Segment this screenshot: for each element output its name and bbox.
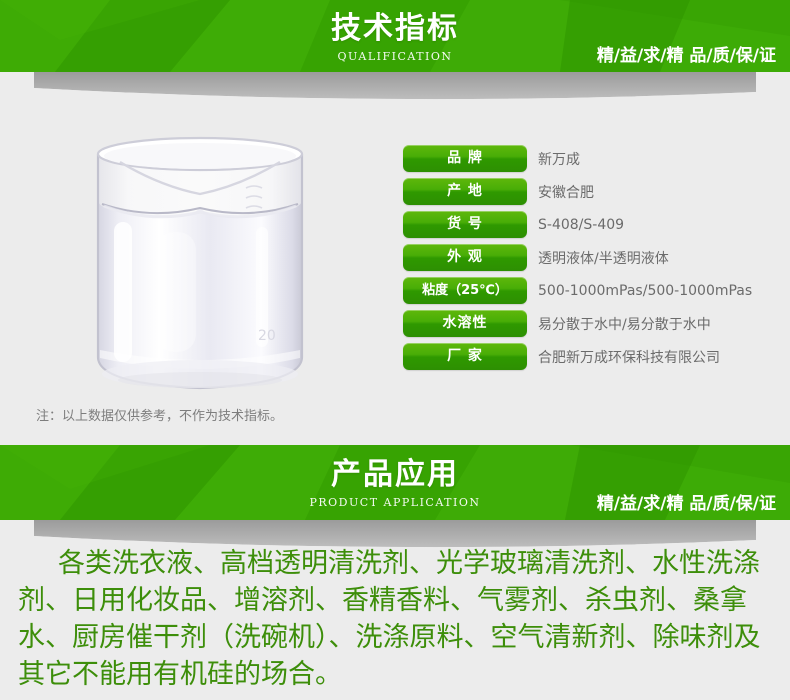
spec-row-water-solubility: 水溶性 易分散于水中/易分散于水中 — [403, 310, 783, 337]
spec-label-origin: 产 地 — [403, 178, 527, 205]
spec-label-water-solubility: 水溶性 — [403, 310, 527, 337]
spec-label-appearance: 外 观 — [403, 244, 527, 271]
spec-value-viscosity: 500-1000mPas/500-1000mPas — [538, 283, 752, 299]
spec-row-origin: 产 地 安徽合肥 — [403, 178, 783, 205]
application-slogan: 精/益/求/精 品/质/保/证 — [597, 489, 776, 514]
spec-label-manufacturer: 厂 家 — [403, 343, 527, 370]
application-description: 各类洗衣液、高档透明清洗剂、光学玻璃清洗剂、水性洗涤剂、日用化妆品、增溶剂、香精… — [18, 545, 774, 693]
product-detail-page: 技术指标 QUALIFICATION 精/益/求/精 品/质/保/证 — [0, 0, 790, 700]
disclaimer-note: 注：以上数据仅供参考，不作为技术指标。 — [36, 405, 283, 424]
qualification-slogan: 精/益/求/精 品/质/保/证 — [597, 41, 776, 66]
spec-label-viscosity: 粘度（25℃） — [403, 277, 527, 304]
spec-label-item-number: 货 号 — [403, 211, 527, 238]
spec-value-origin: 安徽合肥 — [538, 182, 594, 202]
spec-row-viscosity: 粘度（25℃） 500-1000mPas/500-1000mPas — [403, 277, 783, 304]
spec-row-item-number: 货 号 S-408/S-409 — [403, 211, 783, 238]
spec-value-brand: 新万成 — [538, 149, 580, 169]
spec-value-appearance: 透明液体/半透明液体 — [538, 248, 669, 268]
spec-row-brand: 品 牌 新万成 — [403, 145, 783, 172]
application-banner: 产品应用 PRODUCT APPLICATION 精/益/求/精 品/质/保/证 — [0, 445, 790, 520]
product-image-beaker: 20 — [60, 112, 340, 407]
spec-value-water-solubility: 易分散于水中/易分散于水中 — [538, 314, 711, 334]
qualification-banner-shadow — [0, 72, 790, 106]
qualification-banner: 技术指标 QUALIFICATION 精/益/求/精 品/质/保/证 — [0, 0, 790, 72]
spec-label-brand: 品 牌 — [403, 145, 527, 172]
spec-value-item-number: S-408/S-409 — [538, 217, 624, 233]
spec-row-manufacturer: 厂 家 合肥新万成环保科技有限公司 — [403, 343, 783, 370]
spec-value-manufacturer: 合肥新万成环保科技有限公司 — [538, 347, 720, 367]
spec-row-appearance: 外 观 透明液体/半透明液体 — [403, 244, 783, 271]
svg-text:20: 20 — [258, 328, 276, 344]
spec-table: 品 牌 新万成 产 地 安徽合肥 货 号 S-408/S-409 外 观 透明液… — [403, 145, 783, 376]
